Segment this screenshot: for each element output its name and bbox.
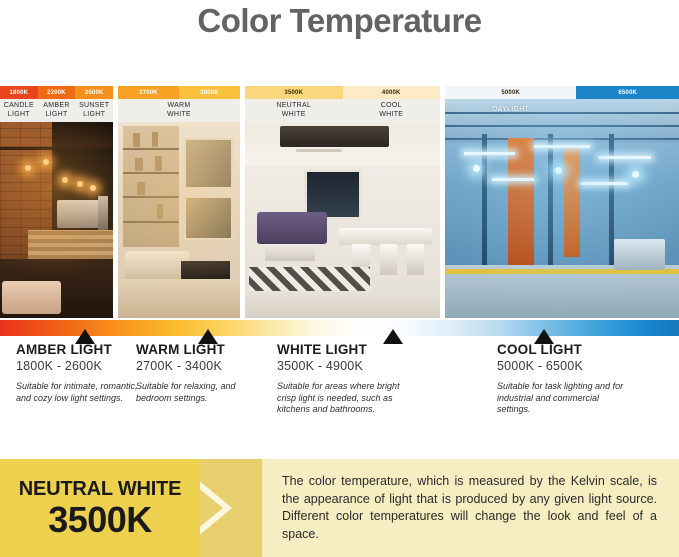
banner-description: The color temperature, which is measured…: [262, 459, 679, 557]
bottom-banner: NEUTRAL WHITE 3500K The color temperatur…: [0, 459, 679, 557]
page-title: Color Temperature: [197, 2, 481, 40]
category-warm-light: WARM LIGHT 2700K - 3400K Suitable for re…: [136, 342, 268, 404]
photo-cool-warehouse: DAYLIGHT: [445, 99, 679, 318]
category-list: AMBER LIGHT 1800K - 2600K Suitable for i…: [0, 342, 679, 447]
name-bar-warm: WARM WHITE: [118, 99, 240, 122]
header: Color Temperature: [0, 0, 679, 78]
banner-body-text: The color temperature, which is measured…: [282, 473, 657, 543]
category-name: WARM LIGHT: [136, 342, 268, 357]
kelvin-seg-2200k: 2200K: [38, 86, 76, 99]
name-sunset-light: SUNSET LIGHT: [75, 99, 113, 122]
name-bar-cool: DAYLIGHT: [445, 99, 679, 122]
name-bar-neutral: NEUTRAL WHITE COOL WHITE: [245, 99, 440, 122]
kelvin-seg-5000k: 5000K: [445, 86, 576, 99]
chevron-right-icon: [200, 459, 262, 557]
banner-highlight-kelvin: 3500K: [48, 501, 152, 539]
kelvin-bar-cool: 5000K 6500K: [445, 86, 679, 99]
category-name: COOL LIGHT: [497, 342, 629, 357]
kelvin-seg-3500k: 3500K: [245, 86, 343, 99]
name-bar-amber: CANDLE LIGHT AMBER LIGHT SUNSET LIGHT: [0, 99, 113, 122]
banner-highlight-title: NEUTRAL WHITE: [19, 478, 182, 501]
panel-strip: 1800K 2200K 2500K CANDLE LIGHT AMBER LIG…: [0, 86, 679, 318]
name-line-1: DAYLIGHT: [492, 106, 529, 115]
name-line-1: CANDLE: [4, 102, 34, 111]
kelvin-bar-warm: 2700K 3000K: [118, 86, 240, 99]
kelvin-seg-2700k: 2700K: [118, 86, 179, 99]
kelvin-seg-2500k: 2500K: [75, 86, 113, 99]
category-range: 1800K - 2600K: [16, 359, 148, 373]
panel-neutral-white: 3500K 4000K NEUTRAL WHITE COOL WHITE: [245, 86, 440, 318]
photo-neutral-dining-room: [245, 122, 440, 318]
kelvin-seg-6500k: 6500K: [576, 86, 679, 99]
name-line-2: LIGHT: [45, 111, 67, 120]
kelvin-seg-1800k: 1800K: [0, 86, 38, 99]
panel-warm-white: 2700K 3000K WARM WHITE: [118, 86, 240, 318]
category-description: Suitable for intimate, romantic, and coz…: [16, 381, 148, 404]
kelvin-gradient-scale: [0, 320, 679, 336]
category-range: 5000K - 6500K: [497, 359, 629, 373]
name-line-1: NEUTRAL: [276, 102, 311, 111]
name-line-2: WHITE: [167, 111, 191, 120]
category-description: Suitable for task lighting and for indus…: [497, 381, 629, 416]
name-line-2: LIGHT: [8, 111, 30, 120]
photo-amber-coffee-shop: [0, 122, 113, 318]
category-name: WHITE LIGHT: [277, 342, 409, 357]
category-cool-light: COOL LIGHT 5000K - 6500K Suitable for ta…: [497, 342, 629, 416]
name-neutral-white: NEUTRAL WHITE: [245, 99, 343, 122]
name-spacer: [576, 99, 679, 122]
name-line-2: LIGHT: [83, 111, 105, 120]
name-line-2: WHITE: [379, 111, 403, 120]
name-line-1: SUNSET: [79, 102, 109, 111]
category-description: Suitable for relaxing, and bedroom setti…: [136, 381, 268, 404]
category-range: 2700K - 3400K: [136, 359, 268, 373]
kelvin-seg-3000k: 3000K: [179, 86, 240, 99]
category-name: AMBER LIGHT: [16, 342, 148, 357]
category-description: Suitable for areas where bright crisp li…: [277, 381, 409, 416]
panel-cool-daylight: 5000K 6500K: [445, 86, 679, 318]
name-warm-white: WARM WHITE: [118, 99, 240, 122]
banner-highlight: NEUTRAL WHITE 3500K: [0, 459, 200, 557]
name-line-2: WHITE: [282, 111, 306, 120]
name-line-1: WARM: [167, 102, 190, 111]
name-line-1: COOL: [381, 102, 402, 111]
kelvin-bar-amber: 1800K 2200K 2500K: [0, 86, 113, 99]
photo-warm-living-room: [118, 122, 240, 318]
category-range: 3500K - 4900K: [277, 359, 409, 373]
name-amber-light: AMBER LIGHT: [38, 99, 76, 122]
category-white-light: WHITE LIGHT 3500K - 4900K Suitable for a…: [277, 342, 409, 416]
name-candle-light: CANDLE LIGHT: [0, 99, 38, 122]
kelvin-bar-neutral: 3500K 4000K: [245, 86, 440, 99]
name-daylight: DAYLIGHT: [445, 99, 576, 122]
panel-amber: 1800K 2200K 2500K CANDLE LIGHT AMBER LIG…: [0, 86, 113, 318]
category-amber-light: AMBER LIGHT 1800K - 2600K Suitable for i…: [16, 342, 148, 404]
kelvin-seg-4000k: 4000K: [343, 86, 441, 99]
name-cool-white: COOL WHITE: [343, 99, 441, 122]
name-line-1: AMBER: [43, 102, 69, 111]
